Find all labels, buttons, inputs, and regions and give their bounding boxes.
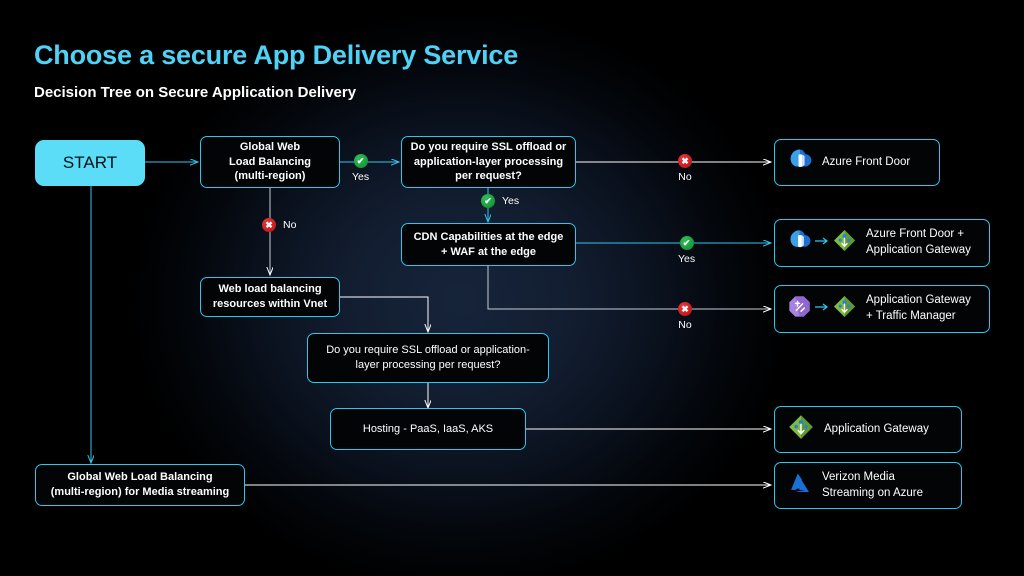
azure-front-door-icon xyxy=(787,147,813,178)
node-global-load-balancing[interactable]: Global WebLoad Balancing(multi-region) xyxy=(200,136,340,188)
node-media-load-balancing[interactable]: Global Web Load Balancing(multi-region) … xyxy=(35,464,245,506)
icon-chain xyxy=(787,228,857,258)
service-card-azure-front-door-label: Azure Front Door xyxy=(822,155,910,171)
node-global-load-balancing-label: Global WebLoad Balancing(multi-region) xyxy=(229,140,311,184)
arrow-right-icon xyxy=(815,300,829,318)
node-hosting-label: Hosting - PaaS, IaaS, AKS xyxy=(363,422,493,437)
diagram-canvas: Choose a secure App Delivery Service Dec… xyxy=(0,0,1024,576)
service-card-afd-appgw[interactable]: Azure Front Door +Application Gateway xyxy=(774,219,990,267)
application-gateway-icon xyxy=(787,413,815,446)
arrow-right-icon xyxy=(815,234,829,252)
service-card-azure-front-door[interactable]: Azure Front Door xyxy=(774,139,940,186)
node-start-label: START xyxy=(63,152,117,174)
service-card-afd-appgw-label: Azure Front Door +Application Gateway xyxy=(866,227,971,258)
service-card-appgw-traffic-manager-label: Application Gateway+ Traffic Manager xyxy=(866,293,971,324)
service-card-application-gateway-label: Application Gateway xyxy=(824,422,929,438)
node-ssl-question-2[interactable]: Do you require SSL offload or applicatio… xyxy=(307,333,549,383)
node-ssl-question-2-label: Do you require SSL offload or applicatio… xyxy=(326,343,530,372)
node-hosting[interactable]: Hosting - PaaS, IaaS, AKS xyxy=(330,408,526,450)
application-gateway-icon xyxy=(832,228,857,258)
traffic-manager-icon xyxy=(787,294,812,324)
application-gateway-icon xyxy=(832,294,857,324)
azure-logo-icon xyxy=(787,470,813,501)
node-cdn-waf-label: CDN Capabilities at the edge+ WAF at the… xyxy=(414,230,564,259)
service-card-application-gateway[interactable]: Application Gateway xyxy=(774,406,962,453)
node-ssl-question-1-label: Do you require SSL offload orapplication… xyxy=(411,140,567,184)
node-vnet-load-balancing[interactable]: Web load balancingresources within Vnet xyxy=(200,277,340,317)
service-card-appgw-traffic-manager[interactable]: Application Gateway+ Traffic Manager xyxy=(774,285,990,333)
node-start[interactable]: START xyxy=(35,140,145,186)
node-cdn-waf[interactable]: CDN Capabilities at the edge+ WAF at the… xyxy=(401,223,576,266)
icon-chain xyxy=(787,294,857,324)
service-card-verizon-media-label: Verizon MediaStreaming on Azure xyxy=(822,470,923,501)
azure-front-door-icon xyxy=(787,228,812,258)
service-card-verizon-media[interactable]: Verizon MediaStreaming on Azure xyxy=(774,462,962,509)
node-ssl-question-1[interactable]: Do you require SSL offload orapplication… xyxy=(401,136,576,188)
node-media-load-balancing-label: Global Web Load Balancing(multi-region) … xyxy=(51,470,229,499)
node-vnet-load-balancing-label: Web load balancingresources within Vnet xyxy=(213,282,327,311)
